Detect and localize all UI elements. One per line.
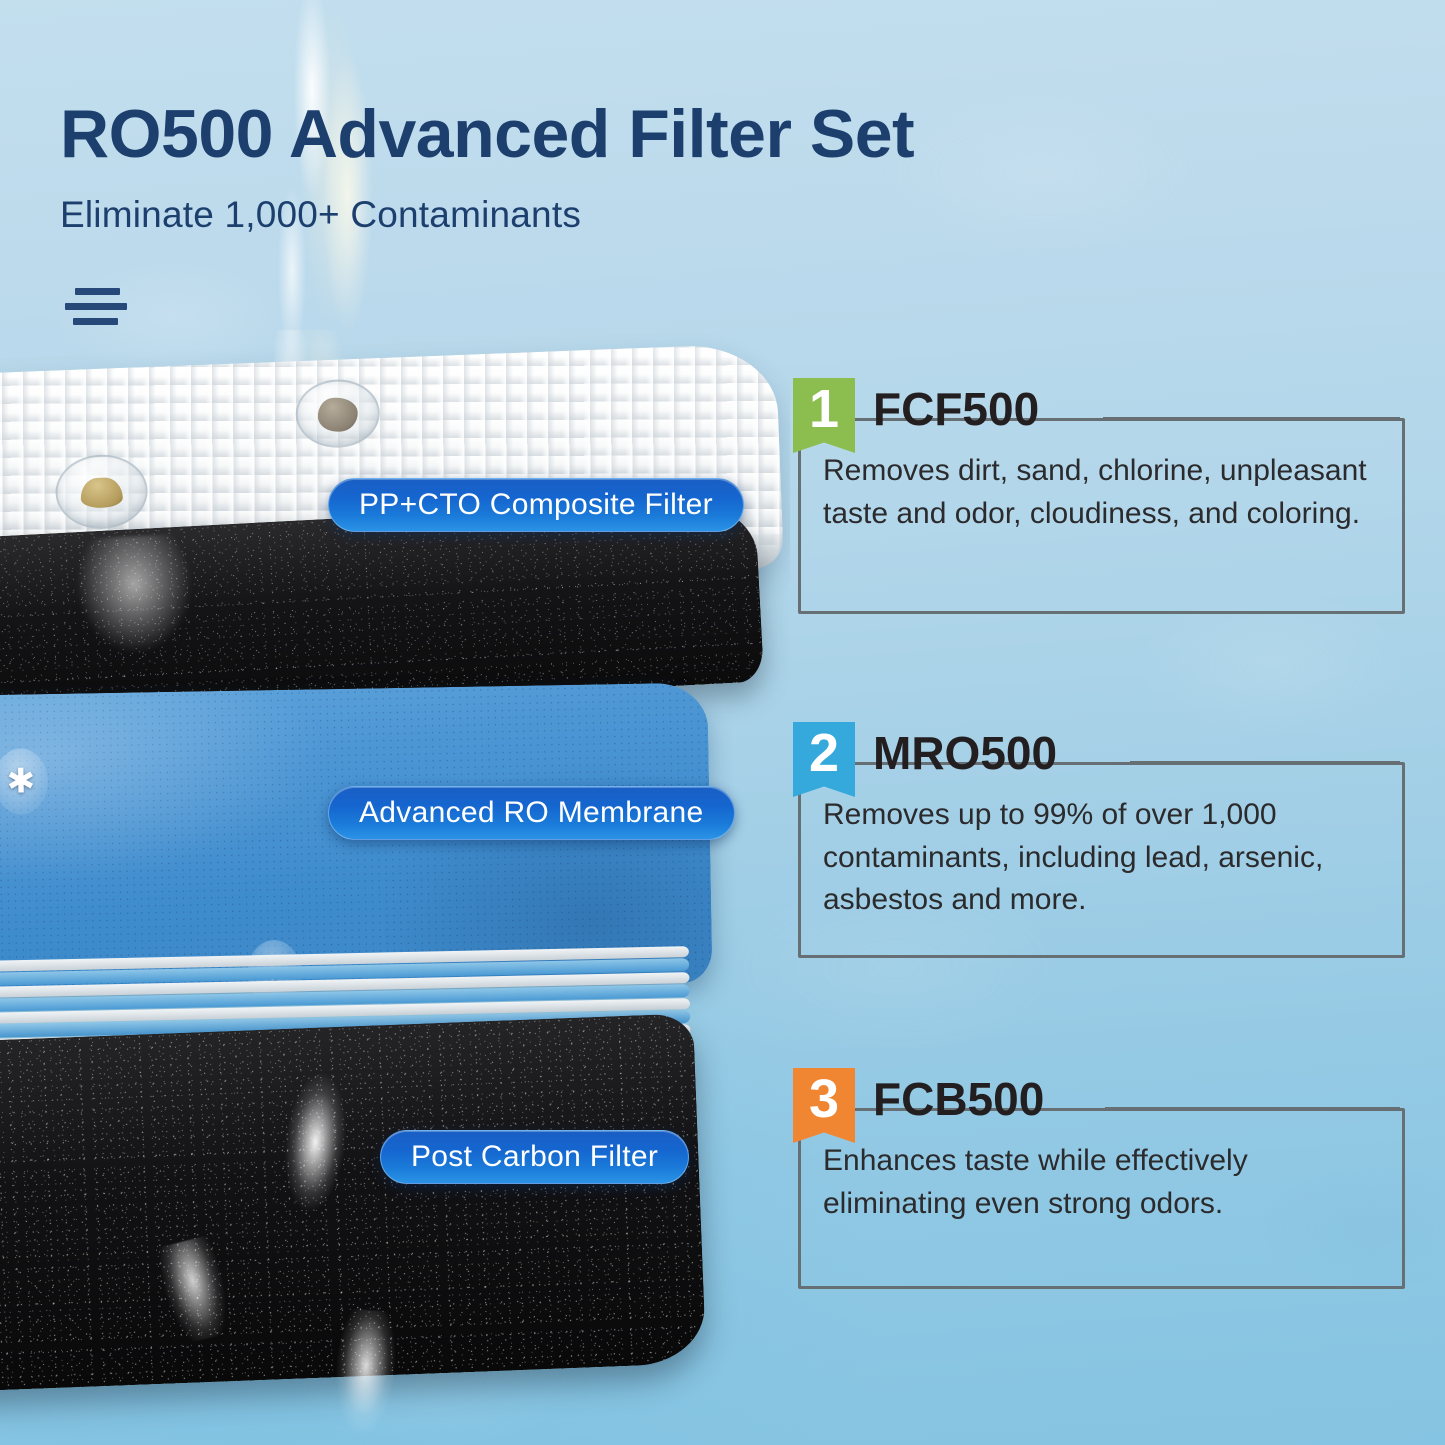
dirt-sample-dish [54, 453, 149, 530]
accent-line [65, 303, 127, 310]
filter-spec-cards: 1 FCF500 Removes dirt, sand, chlorine, u… [793, 0, 1445, 1445]
step-number-badge: 1 [793, 378, 855, 453]
dirt-grit-icon [80, 477, 123, 509]
label-post-carbon-filter: Post Carbon Filter [380, 1130, 689, 1184]
sediment-grit-icon [317, 397, 358, 433]
card-heading: 1 FCF500 [793, 378, 1053, 453]
model-name: FCB500 [873, 1068, 1058, 1130]
three-line-accent-icon [65, 288, 135, 325]
label-pp-cto-composite-filter: PP+CTO Composite Filter [328, 478, 744, 532]
card-head-rule [1103, 417, 1400, 420]
accent-line [73, 318, 118, 325]
card-heading: 2 MRO500 [793, 722, 1071, 797]
model-name: MRO500 [873, 722, 1071, 784]
model-name: FCF500 [873, 378, 1053, 440]
carbon-highlight [72, 533, 198, 659]
card-description: Enhances taste while effectively elimina… [823, 1140, 1383, 1225]
label-advanced-ro-membrane: Advanced RO Membrane [328, 786, 735, 840]
accent-line [75, 288, 120, 295]
product-infographic: ✱ ◗ ≋ PP+CTO Composite Filter Advanced R… [0, 0, 1445, 1445]
card-head-rule [1105, 1107, 1400, 1110]
sediment-sample-dish [294, 378, 381, 449]
card-description: Removes up to 99% of over 1,000 contamin… [823, 794, 1383, 922]
card-heading: 3 FCB500 [793, 1068, 1058, 1143]
water-splash-bottom [245, 1302, 484, 1445]
step-number-badge: 3 [793, 1068, 855, 1143]
card-head-rule [1130, 761, 1400, 764]
card-description: Removes dirt, sand, chlorine, unpleasant… [823, 450, 1383, 535]
step-number-badge: 2 [793, 722, 855, 797]
